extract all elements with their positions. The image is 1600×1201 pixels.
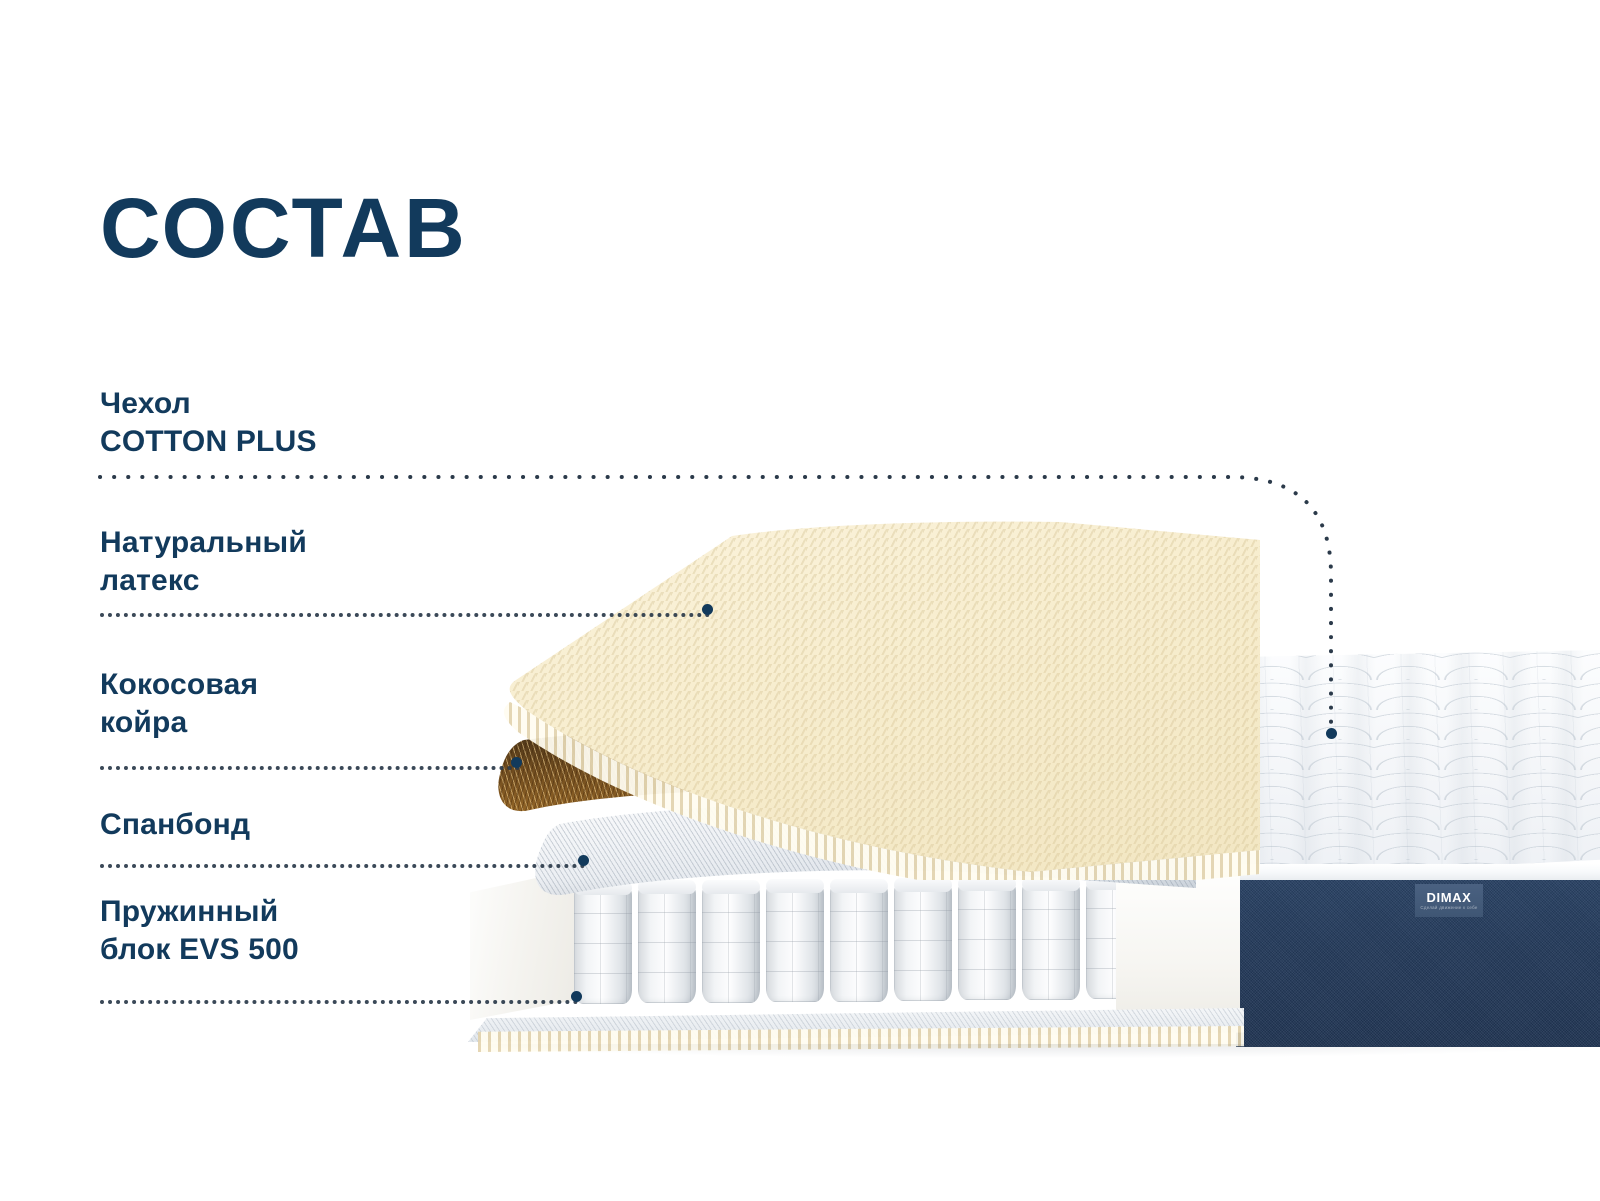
pocket-spring	[830, 880, 888, 1002]
mattress-cutaway-illustration: DIMAX Сделай движение к себе	[0, 0, 1600, 1201]
leader-line-spring-block	[100, 1000, 578, 1004]
pocket-spring	[766, 880, 824, 1002]
pocket-spring	[638, 881, 696, 1003]
layer-label-cover: Чехол COTTON PLUS	[100, 385, 317, 461]
pocket-spring	[894, 879, 952, 1001]
quilted-cover-top	[1238, 650, 1600, 878]
leader-line-coir	[100, 766, 520, 770]
leader-line-spanbond	[100, 864, 585, 868]
layer-label-coir: Кокосовая койра	[100, 666, 258, 742]
layer-label-latex: Натуральный латекс	[100, 524, 307, 600]
leader-line-latex	[100, 613, 710, 617]
layer-label-spanbond: Спанбонд	[100, 806, 250, 844]
layer-label-spring-block: Пружинный блок EVS 500	[100, 893, 299, 969]
composition-infographic: СОСТАВ DIMAX Сделай движение к себе	[0, 0, 1600, 1201]
leader-dot-latex	[702, 604, 713, 615]
brand-name: DIMAX	[1427, 891, 1472, 904]
pocket-spring	[958, 878, 1016, 1000]
brand-tagline: Сделай движение к себе	[1420, 906, 1477, 910]
leader-dot-spanbond	[578, 855, 589, 866]
pocket-spring	[1022, 878, 1080, 1000]
floor-shadow	[470, 1044, 1600, 1058]
pocket-spring	[574, 882, 632, 1004]
dimax-brand-tag: DIMAX Сделай движение к себе	[1415, 884, 1483, 917]
foam-perimeter-right	[1116, 872, 1240, 1032]
leader-dot-coir	[511, 757, 522, 768]
leader-dot-cover	[1326, 728, 1337, 739]
leader-dot-spring-block	[571, 991, 582, 1002]
pocket-spring	[702, 881, 760, 1003]
